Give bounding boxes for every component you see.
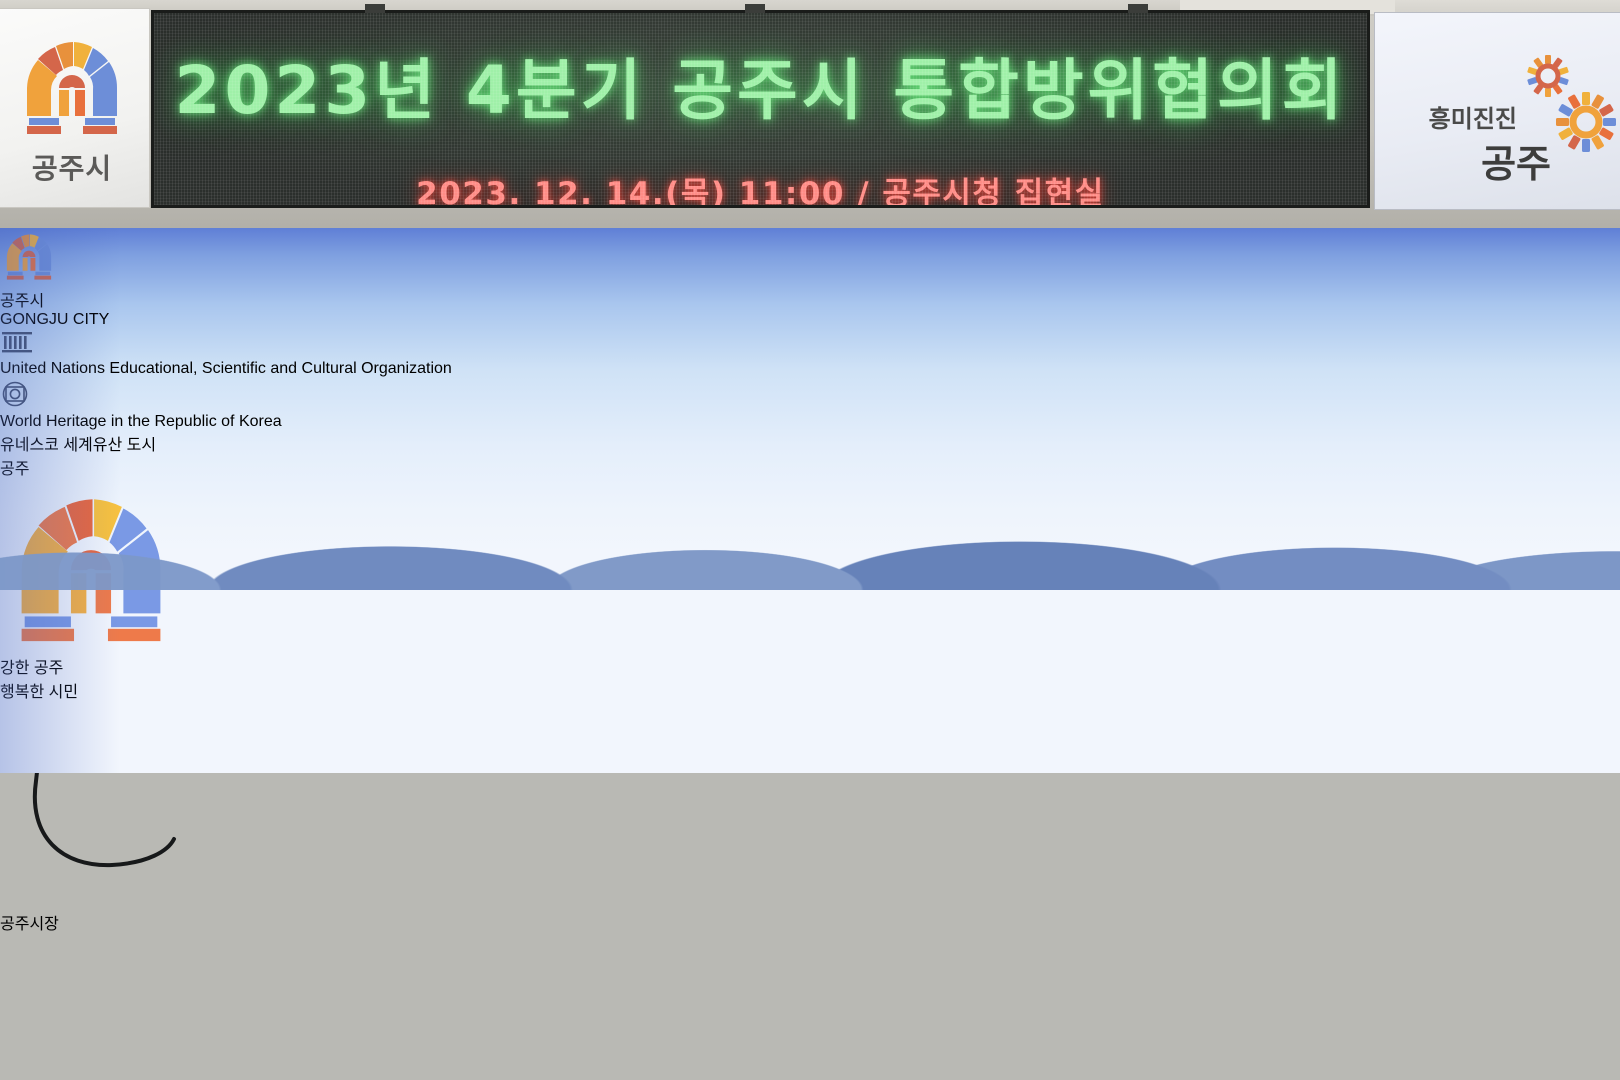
- led-mount-bracket: [1128, 4, 1148, 13]
- unesco-temple-icon: United Nations Educational, Scientific a…: [0, 329, 1620, 378]
- gongju-sunburst-logo-large: [1553, 89, 1619, 160]
- stage-backdrop: 공주시 GONGJU CITY United Nations Education…: [0, 228, 1620, 773]
- backdrop-landscape-photo: [0, 504, 1620, 773]
- unesco-gongju-calligraphy: 공주: [0, 455, 1620, 479]
- mid-mountains: [0, 538, 1620, 634]
- led-mount-bracket: [365, 4, 385, 13]
- briefing-room-scene: 공주시 2023년 4분기 공주시 통합방위협의회 2023. 12. 14.(…: [0, 0, 1620, 1080]
- gongju-city-arch-logo: [13, 30, 131, 143]
- desk-nameplate-label: 공주시장: [0, 916, 59, 933]
- led-mount-bracket: [745, 4, 765, 13]
- backdrop-city-logo-en: GONGJU CITY: [0, 311, 1620, 329]
- unesco-caption: United Nations Educational, Scientific a…: [0, 360, 1620, 378]
- backdrop-city-logo-kr: 공주시: [0, 287, 1620, 311]
- backdrop-city-logo: 공주시 GONGJU CITY: [0, 228, 1620, 329]
- right-sign-line2: 공주: [1387, 133, 1551, 188]
- world-heritage-icon: World Heritage in the Republic of Korea: [0, 378, 1620, 431]
- left-sign-label: 공주시: [32, 147, 112, 187]
- world-heritage-caption: World Heritage in the Republic of Korea: [0, 413, 1620, 431]
- led-display-banner: 2023년 4분기 공주시 통합방위협의회 2023. 12. 14.(목) 1…: [151, 10, 1370, 208]
- right-wall-sign: 흥미진진 공주: [1374, 12, 1620, 210]
- right-sign-line1: 흥미진진: [1387, 99, 1517, 134]
- led-title: 2023년 4분기 공주시 통합방위협의회: [154, 37, 1367, 133]
- speaker-desk: 공주시장: [0, 910, 1620, 934]
- desk-nameplate: 공주시장: [0, 910, 1620, 934]
- led-subtitle: 2023. 12. 14.(목) 11:00 / 공주시청 집현실: [154, 168, 1367, 208]
- left-wall-sign: 공주시: [0, 8, 150, 208]
- unesco-world-heritage-mark: United Nations Educational, Scientific a…: [0, 329, 1620, 455]
- unesco-label: 유네스코 세계유산 도시: [0, 431, 1620, 455]
